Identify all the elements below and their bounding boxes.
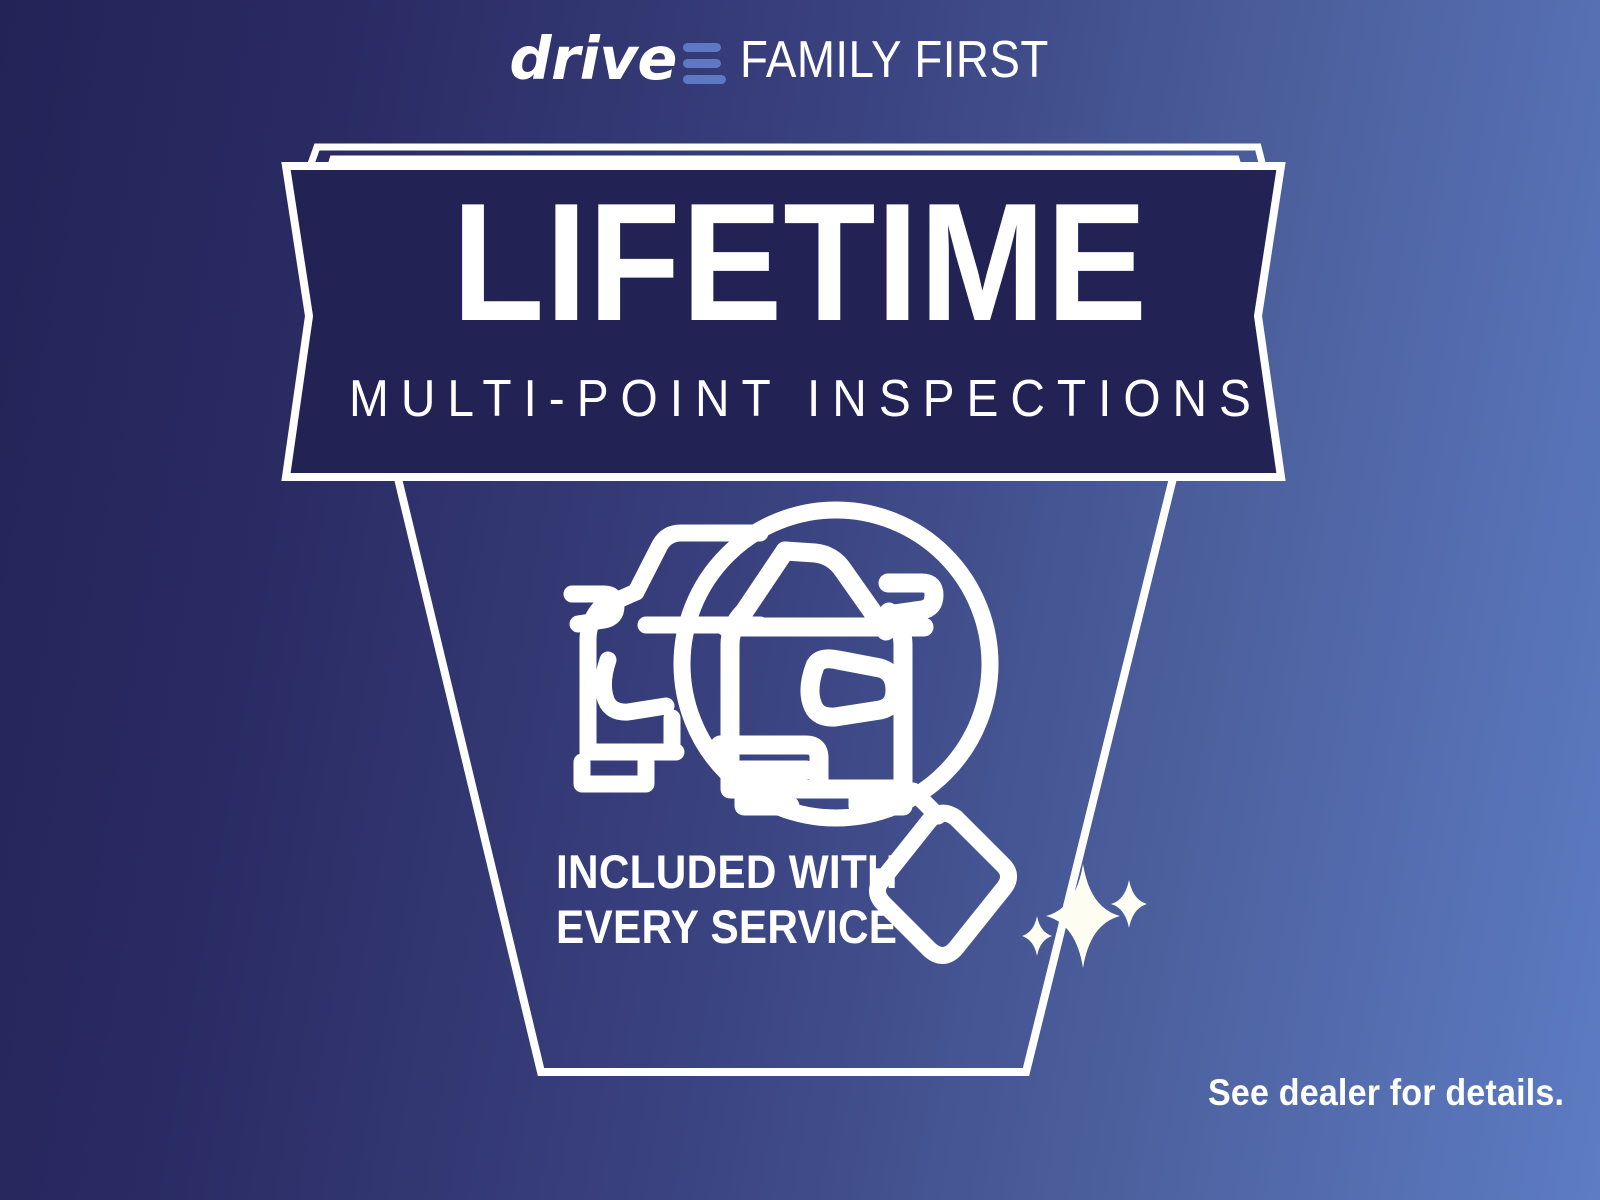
- callout-line-1: INCLUDED WITH: [556, 845, 934, 900]
- sparkle-medium: [1111, 880, 1147, 928]
- callout-line-2: EVERY SERVICE: [556, 900, 934, 955]
- sparkle-small: [1022, 916, 1052, 956]
- badge-graphic: LIFETIME MULTI-POINT INSPECTIONS: [0, 0, 1600, 1200]
- sparkle-large: [1046, 864, 1120, 968]
- disclaimer-footnote: See dealer for details.: [1208, 1072, 1564, 1114]
- sparkles-group: [0, 0, 1600, 1200]
- callout-text: INCLUDED WITH EVERY SERVICE: [556, 845, 934, 955]
